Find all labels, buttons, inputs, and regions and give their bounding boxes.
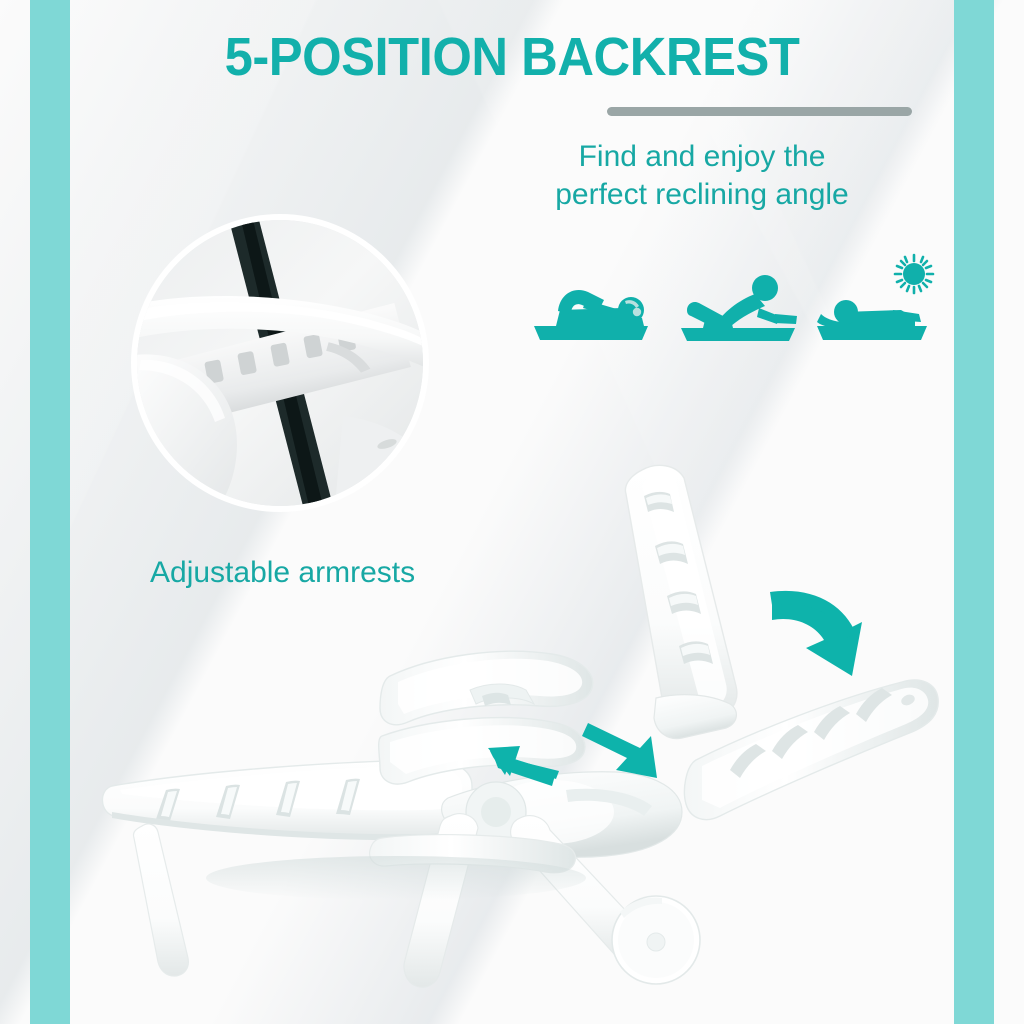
subtitle-line-1: Find and enjoy the xyxy=(492,138,912,176)
right-teal-rail xyxy=(954,0,994,1024)
subtitle-line-2: perfect reclining angle xyxy=(492,176,912,214)
person-lying-flat-sunbathing-icon xyxy=(815,248,945,352)
folding-reclining-lounge-chair xyxy=(96,460,956,1000)
sun-icon xyxy=(895,255,933,293)
chair-wheel xyxy=(612,896,700,984)
left-teal-rail xyxy=(30,0,70,1024)
chair-backrest xyxy=(625,465,736,738)
chair-front-leg xyxy=(133,824,188,976)
person-reclined-reading-icon xyxy=(675,248,805,352)
person-lying-with-headphones-icon xyxy=(530,248,660,352)
infographic-canvas: 5-POSITION BACKREST Find and enjoy the p… xyxy=(0,0,1024,1024)
activity-icon-row xyxy=(520,248,940,352)
title-divider xyxy=(607,107,912,116)
page-title: 5-POSITION BACKREST xyxy=(31,26,994,88)
subtitle: Find and enjoy the perfect reclining ang… xyxy=(492,138,912,215)
